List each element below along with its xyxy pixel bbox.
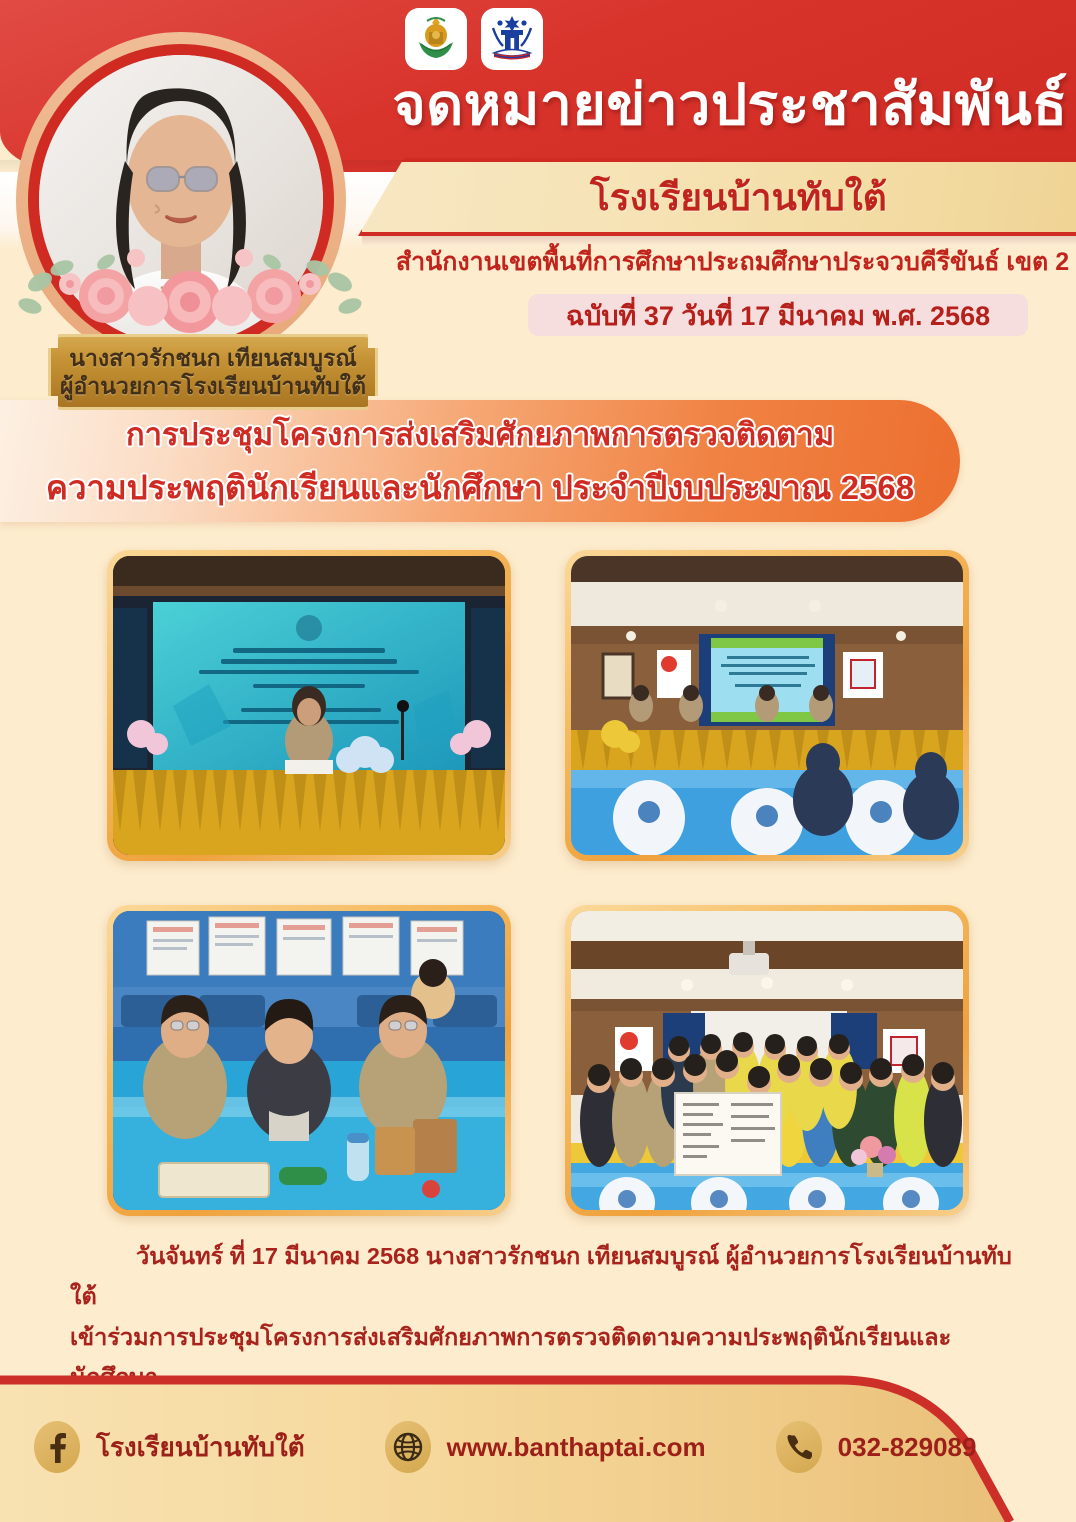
phone-icon (776, 1421, 822, 1473)
issue-date-label: ฉบับที่ 37 วันที่ 17 มีนาคม พ.ศ. 2568 (566, 294, 990, 337)
event-title-text-wrap: การประชุมโครงการส่งเสริมศักยภาพการตรวจติ… (0, 400, 960, 522)
event-title-line-1: การประชุมโครงการส่งเสริมศักยภาพการตรวจติ… (126, 409, 834, 459)
photo-presenter-on-stage (107, 550, 511, 861)
photo-conference-hall (565, 550, 969, 861)
photo-group-photo (565, 905, 969, 1216)
plaque-text-wrap: นางสาวรักชนก เทียนสมบูรณ์ ผู้อำนวยการโรง… (48, 334, 378, 410)
event-title-line-2: ความประพฤตินักเรียนและนักศึกษา ประจำปีงบ… (46, 461, 914, 514)
newsletter-page: จดหมายข่าวประชาสัมพันธ์ โรงเรียนบ้านทับใ… (0, 0, 1076, 1522)
footer-contact-items: โรงเรียนบ้านทับใต้ www.banthaptai.com (0, 1372, 1076, 1522)
footer-website-label: www.banthaptai.com (447, 1432, 706, 1463)
photo-participants-table (107, 905, 511, 1216)
footer-website-item[interactable]: www.banthaptai.com (385, 1421, 706, 1473)
footer-facebook-label: โรงเรียนบ้านทับใต้ (96, 1427, 305, 1468)
footer-phone-item[interactable]: 032-829089 (776, 1421, 977, 1473)
director-portrait-block: นางสาวรักชนก เทียนสมบูรณ์ ผู้อำนวยการโรง… (10, 28, 370, 388)
director-name-label: นางสาวรักชนก เทียนสมบูรณ์ (69, 345, 356, 371)
education-office-line: สำนักงานเขตพื้นที่การศึกษาประถมศึกษาประจ… (400, 244, 1065, 280)
school-name-label: โรงเรียนบ้านทับใต้ (590, 168, 887, 227)
globe-icon (385, 1421, 431, 1473)
facebook-icon (34, 1421, 80, 1473)
director-name-plaque: นางสาวรักชนก เทียนสมบูรณ์ ผู้อำนวยการโรง… (48, 334, 378, 410)
footer: โรงเรียนบ้านทับใต้ www.banthaptai.com (0, 1372, 1076, 1522)
footer-facebook-item[interactable]: โรงเรียนบ้านทับใต้ (34, 1421, 305, 1473)
director-position-label: ผู้อำนวยการโรงเรียนบ้านทับใต้ (60, 373, 366, 399)
newsletter-main-title: จดหมายข่าวประชาสัมพันธ์ (392, 62, 1068, 148)
photo-grid (107, 550, 969, 1220)
issue-date-badge: ฉบับที่ 37 วันที่ 17 มีนาคม พ.ศ. 2568 (528, 294, 1028, 336)
footer-phone-label: 032-829089 (838, 1432, 977, 1463)
event-description: วันจันทร์ ที่ 17 มีนาคม 2568 นางสาวรักชน… (70, 1236, 1020, 1362)
school-name-ribbon-label-wrap: โรงเรียนบ้านทับใต้ (358, 158, 1076, 236)
